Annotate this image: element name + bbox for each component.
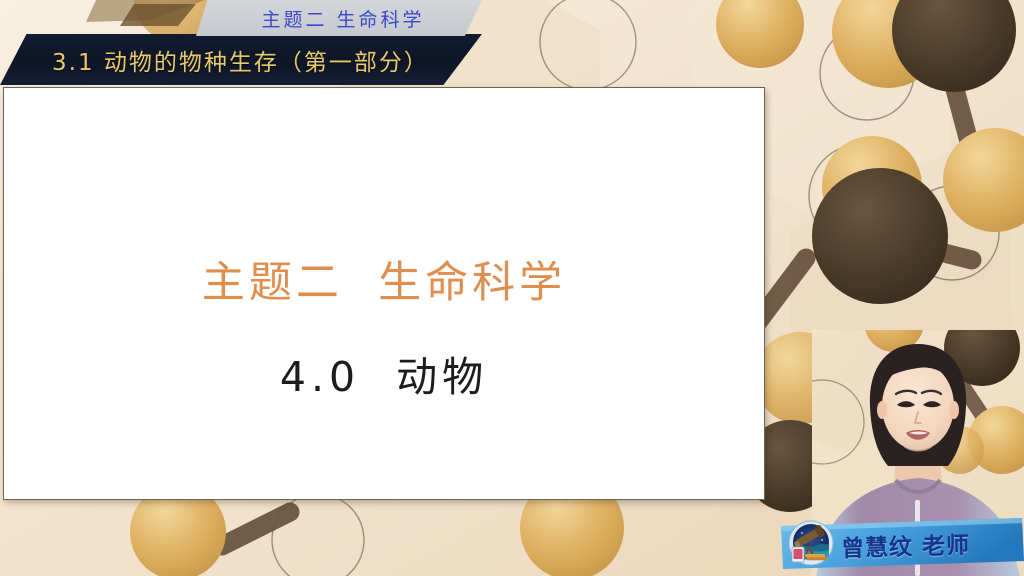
teacher-name-plate: 曾慧纹 老师 — [779, 517, 1024, 570]
section-banner: 3.1 动物的物种生存（第一部分） — [0, 34, 482, 85]
teacher-name-label: 曾慧纹 老师 — [841, 525, 1018, 564]
slide-content-panel[interactable]: 主题二 生命科学 4.0 动物 — [3, 87, 765, 500]
topic-banner: 主题二 生命科学 — [196, 0, 482, 36]
presentation-stage: 主题二 生命科学 4.0 动物 主题二 生命科学 3.1 动物的物种生存（第一部… — [0, 0, 1024, 576]
slide-main-title: 主题二 生命科学 — [4, 248, 764, 310]
topic-banner-label: 主题二 生命科学 — [261, 5, 424, 32]
section-banner-label: 3.1 动物的物种生存（第一部分） — [52, 43, 429, 77]
slide-subtitle: 4.0 动物 — [4, 343, 764, 403]
